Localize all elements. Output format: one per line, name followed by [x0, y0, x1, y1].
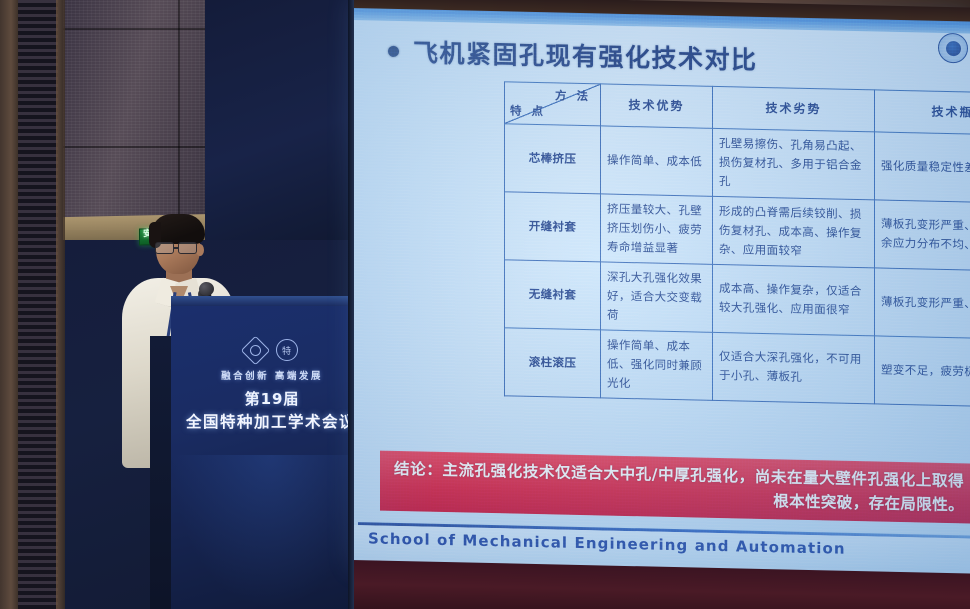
corner-method-label: 方 法: [555, 86, 591, 106]
cell-disadvantage: 孔壁易擦伤、孔角易凸起、损伤复材孔、多用于铝合金孔: [713, 128, 875, 199]
bullet-icon: [388, 45, 399, 56]
podium-conference-name: 全国特种加工学术会议: [171, 410, 371, 432]
presentation-slide: 飞机紧固孔现有强化技术对比 方 法 特 点 技术优势 技术劣势 技术瓶颈: [352, 0, 970, 582]
gear-diamond-logo-icon: [240, 335, 270, 365]
podium-logo-row: 特: [238, 337, 304, 363]
table-row: 滚柱滚压 操作简单、成本低、强化同时兼顾光化 仅适合大深孔强化，不可用于小孔、薄…: [505, 328, 970, 408]
cell-disadvantage: 仅适合大深孔强化，不可用于小孔、薄板孔: [713, 332, 875, 403]
wall-trim-left: [0, 0, 20, 609]
podium-lighting-glow: [171, 455, 371, 609]
cell-advantage: 操作简单、成本低: [601, 126, 713, 196]
podium-top-edge: [171, 296, 371, 306]
circular-society-logo-icon: 特: [276, 339, 298, 361]
column-header-advantage: 技术优势: [601, 84, 713, 128]
conclusion-callout: 结论：主流孔强化技术仅适合大中孔/中厚孔强化，尚未在量大壁件孔强化上取得根本性突…: [380, 451, 970, 524]
university-emblem-icon: [938, 33, 968, 64]
table-row: 无缝衬套 深孔大孔强化效果好，适合大交变载荷 成本高、操作复杂，仅适合较大孔强化…: [505, 260, 970, 340]
table-corner-header: 方 法 特 点: [505, 82, 601, 126]
page-title: 飞机紧固孔现有强化技术对比: [413, 33, 758, 77]
cell-advantage: 深孔大孔强化效果好，适合大交变载荷: [601, 262, 713, 332]
cell-method: 无缝衬套: [505, 260, 601, 330]
projection-screen: 飞机紧固孔现有强化技术对比 方 法 特 点 技术优势 技术劣势 技术瓶颈: [352, 0, 970, 582]
cell-advantage: 挤压量较大、孔壁挤压划伤小、疲劳寿命增益显著: [601, 194, 713, 264]
cell-method: 滚柱滚压: [505, 328, 601, 398]
conclusion-text: 结论：主流孔强化技术仅适合大中孔/中厚孔强化，尚未在量大壁件孔强化上取得根本性突…: [394, 457, 964, 517]
corner-feature-label: 特 点: [510, 101, 546, 121]
table-row: 开缝衬套 挤压量较大、孔壁挤压划伤小、疲劳寿命增益显著 形成的凸脊需后续铰削、损…: [505, 192, 970, 272]
comparison-table: 方 法 特 点 技术优势 技术劣势 技术瓶颈 芯棒挤压 操作简单、成本低 孔壁易…: [504, 81, 970, 407]
cell-bottleneck: 塑变不足，疲劳极限: [875, 336, 970, 408]
glasses-lens-left: [155, 242, 174, 254]
cell-bottleneck: 强化质量稳定性差、控难: [875, 132, 970, 204]
screen-frame-left: [348, 0, 354, 609]
table-row: 芯棒挤压 操作简单、成本低 孔壁易擦伤、孔角易凸起、损伤复材孔、多用于铝合金孔 …: [505, 124, 970, 204]
glasses-lens-right: [178, 242, 197, 254]
podium-tagline: 融合创新 高端发展: [181, 368, 363, 382]
cell-method: 开缝衬套: [505, 192, 601, 262]
cell-advantage: 操作简单、成本低、强化同时兼顾光化: [601, 330, 713, 400]
cell-disadvantage: 成本高、操作复杂，仅适合较大孔强化、应用面很窄: [713, 264, 875, 335]
wall-trim-right: [56, 0, 65, 609]
stone-wall-panel: [63, 0, 211, 230]
column-header-bottleneck: 技术瓶颈: [875, 90, 970, 136]
conference-room-photo: 安全出口 EXIT 特 融合创新 高端发展 第19届 全国特种加工学术会议: [0, 0, 970, 609]
slide-title-row: 飞机紧固孔现有强化技术对比: [388, 33, 758, 77]
cell-disadvantage: 形成的凸脊需后续铰削、损伤复材孔、成本高、操作复杂、应用面较窄: [713, 196, 875, 267]
wall-seam-3: [178, 0, 180, 232]
glasses-icon: [154, 242, 204, 254]
cell-bottleneck: 薄板孔变形严重、难度大: [875, 268, 970, 340]
navy-wall-upper: [205, 0, 370, 246]
table-body: 芯棒挤压 操作简单、成本低 孔壁易擦伤、孔角易凸起、损伤复材孔、多用于铝合金孔 …: [505, 124, 970, 407]
column-header-disadvantage: 技术劣势: [713, 86, 875, 132]
podium-edition: 第19届: [181, 388, 363, 409]
louvered-wall-panel: [18, 0, 58, 609]
cell-bottleneck: 薄板孔变形严重、难度大，残余应力分布不均、终铰孔表面: [875, 200, 970, 272]
cell-method: 芯棒挤压: [505, 124, 601, 194]
